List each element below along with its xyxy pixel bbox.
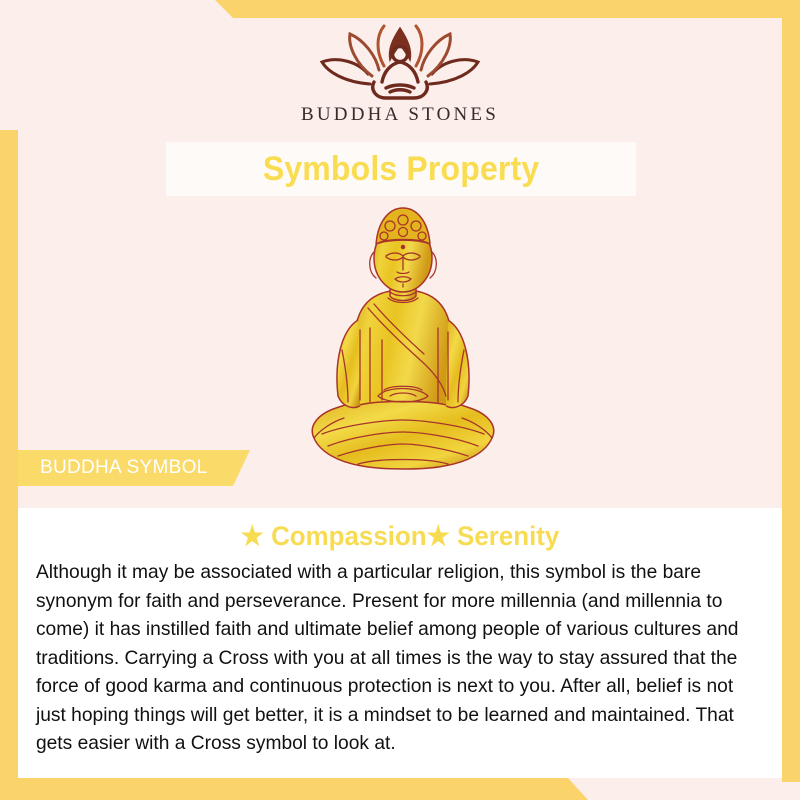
- brand-logo: BUDDHA STONES: [301, 22, 499, 126]
- decorative-frame-bottom: [0, 778, 800, 800]
- page-root: BUDDHA STONES Symbols Property: [0, 0, 800, 800]
- title-band: Symbols Property: [166, 142, 636, 196]
- page-title: Symbols Property: [263, 150, 540, 189]
- section-ribbon: BUDDHA SYMBOL: [18, 450, 250, 486]
- brand-name: BUDDHA STONES: [301, 104, 499, 126]
- content-subheading: ★ Compassion★ Serenity: [47, 520, 754, 552]
- lotus-meditation-icon: [314, 22, 486, 100]
- seated-buddha-statue-icon: [298, 200, 508, 492]
- content-paragraph: Although it may be associated with a par…: [32, 558, 757, 758]
- ribbon-label: BUDDHA SYMBOL: [18, 457, 208, 479]
- header: BUDDHA STONES: [0, 0, 800, 142]
- content-panel: ★ Compassion★ Serenity Although it may b…: [18, 508, 782, 778]
